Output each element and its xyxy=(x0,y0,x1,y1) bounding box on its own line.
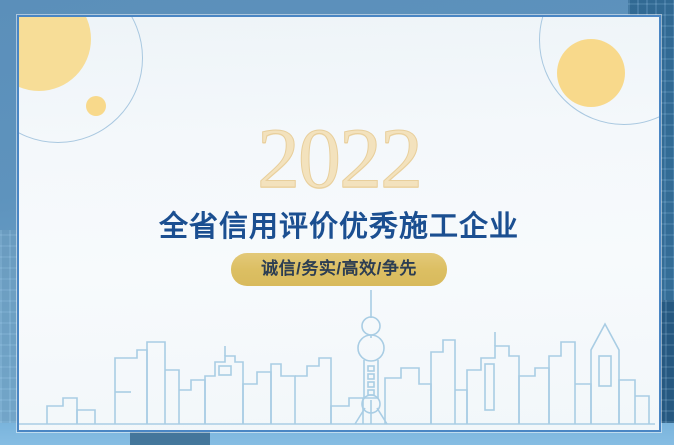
poster-canvas: 2022 全省信用评价优秀施工企业 诚信/务实/高效/争先 xyxy=(0,0,674,445)
yellow-dot-small-icon xyxy=(86,96,106,116)
yellow-circle-right-icon xyxy=(557,39,625,107)
year-heading: 2022 xyxy=(19,115,659,201)
content-frame: 2022 全省信用评价优秀施工企业 诚信/务实/高效/争先 xyxy=(17,15,661,432)
city-skyline-illustration xyxy=(19,280,655,430)
page-title: 全省信用评价优秀施工企业 xyxy=(19,210,659,244)
